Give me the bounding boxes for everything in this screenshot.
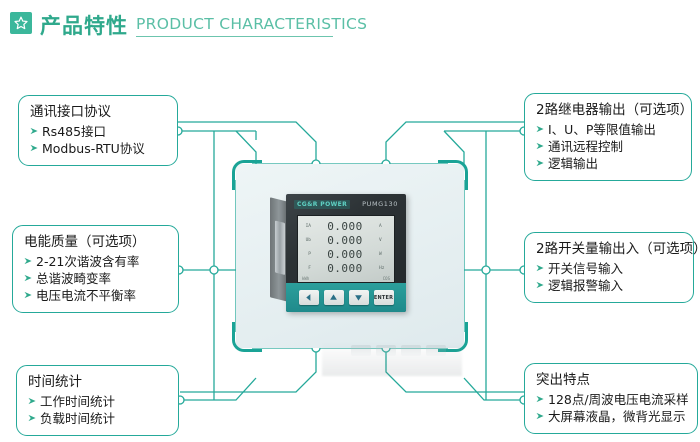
meter-keypad: ENTER <box>286 283 406 312</box>
page-title-en-underline: PRODUCT CHARACTERISTICS <box>136 17 333 38</box>
lcd-row: IA 0.000 A <box>302 219 390 233</box>
device-reflection-keys <box>340 344 456 357</box>
bullet-arrow-icon <box>536 412 545 420</box>
bullet-arrow-icon <box>536 142 545 150</box>
lcd-row-unit: Hz <box>379 266 390 271</box>
up-arrow-key[interactable] <box>324 290 344 305</box>
feature-item: 逻辑输出 <box>536 155 681 172</box>
page-title-en: PRODUCT CHARACTERISTICS <box>136 17 333 33</box>
bullet-arrow-icon <box>30 144 39 152</box>
reflection-key <box>401 345 421 356</box>
feature-item: 128点/周波电压电流采样 <box>536 391 687 408</box>
model-number: PUMG130 <box>362 200 398 208</box>
lcd-row: F 0.000 Hz <box>302 261 390 275</box>
bullet-arrow-icon <box>536 159 545 167</box>
feature-item: 电压电流不平衡率 <box>24 287 168 304</box>
feature-box-power-quality-title: 电能质量（可选项） <box>24 233 168 251</box>
meter-top-bar: CG&R POWER PUMG130 <box>286 194 406 214</box>
feature-item: 开关信号输入 <box>536 260 683 277</box>
lcd-row-tag: F <box>302 266 311 271</box>
product-characteristics-page: 产品特性 PRODUCT CHARACTERISTICS <box>0 0 700 442</box>
bullet-arrow-icon <box>28 414 37 422</box>
lcd-row-value: 0.000 <box>313 249 377 260</box>
feature-item: 负载时间统计 <box>28 410 168 427</box>
corner-bracket-top-left <box>232 160 262 190</box>
reflection-key <box>376 345 396 356</box>
feature-box-digital-io[interactable]: 2路开关量输出入（可选项） 开关信号输入 逻辑报警输入 <box>524 232 694 303</box>
reflection-key <box>351 345 371 356</box>
feature-box-comm[interactable]: 通讯接口协议 Rs485接口 Modbus-RTU协议 <box>18 95 178 166</box>
lcd-row-value: 0.000 <box>313 263 377 274</box>
bullet-arrow-icon <box>536 395 545 403</box>
feature-box-time-statistics-title: 时间统计 <box>28 373 168 391</box>
bullet-arrow-icon <box>24 291 33 299</box>
feature-item-label: 2-21次谐波含有率 <box>36 253 139 270</box>
lcd-row-tag: IA <box>302 224 311 229</box>
corner-bracket-bottom-left <box>232 322 262 352</box>
feature-item-label: I、U、P等限值输出 <box>548 121 656 138</box>
feature-item: Modbus-RTU协议 <box>30 140 167 157</box>
feature-box-digital-io-title: 2路开关量输出入（可选项） <box>536 240 683 258</box>
star-badge-icon <box>10 12 32 34</box>
feature-item: 总谐波畸变率 <box>24 270 168 287</box>
feature-item-label: 电压电流不平衡率 <box>36 287 136 304</box>
lcd-row-unit: A <box>379 224 390 229</box>
reflection-key <box>426 345 446 356</box>
lcd-foot-left: kWh <box>302 276 309 281</box>
corner-bracket-top-right <box>438 160 468 190</box>
feature-item-label: 总谐波畸变率 <box>36 270 111 287</box>
enter-key-label: ENTER <box>374 295 393 301</box>
meter-front-panel: CG&R POWER PUMG130 IA 0.000 A Ub 0.000 V <box>286 194 406 312</box>
lcd-row-unit: V <box>379 238 390 243</box>
feature-item-label: 逻辑报警输入 <box>548 277 623 294</box>
bullet-arrow-icon <box>24 274 33 282</box>
feature-item: 工作时间统计 <box>28 393 168 410</box>
lcd-display: IA 0.000 A Ub 0.000 V P 0.000 W <box>297 215 395 283</box>
lcd-row-value: 0.000 <box>313 221 377 232</box>
feature-item: 通讯远程控制 <box>536 138 681 155</box>
lcd-row-value: 0.000 <box>313 235 377 246</box>
page-title-cn: 产品特性 <box>40 16 128 37</box>
bullet-arrow-icon <box>28 397 37 405</box>
feature-box-relay-output-title: 2路继电器输出（可选项） <box>536 101 681 119</box>
feature-item-label: 逻辑输出 <box>548 155 598 172</box>
feature-item-label: 工作时间统计 <box>40 393 115 410</box>
feature-box-comm-title: 通讯接口协议 <box>30 103 167 121</box>
feature-item-label: Rs485接口 <box>42 123 106 140</box>
feature-item-label: 大屏幕液晶，微背光显示 <box>548 408 686 425</box>
feature-item: 逻辑报警输入 <box>536 277 683 294</box>
feature-item: I、U、P等限值输出 <box>536 121 681 138</box>
feature-item-label: Modbus-RTU协议 <box>42 140 145 157</box>
lcd-row: Ub 0.000 V <box>302 233 390 247</box>
feature-box-highlights-title: 突出特点 <box>536 371 687 389</box>
feature-item: 大屏幕液晶，微背光显示 <box>536 408 687 425</box>
feature-box-highlights[interactable]: 突出特点 128点/周波电压电流采样 大屏幕液晶，微背光显示 <box>524 363 698 434</box>
page-header: 产品特性 PRODUCT CHARACTERISTICS <box>10 12 333 37</box>
power-meter-device: CG&R POWER PUMG130 IA 0.000 A Ub 0.000 V <box>286 194 406 314</box>
bullet-arrow-icon <box>536 264 545 272</box>
feature-item-label: 负载时间统计 <box>40 410 115 427</box>
lcd-foot-right: COS <box>383 276 390 281</box>
lcd-row-unit: W <box>379 252 390 257</box>
down-arrow-key[interactable] <box>349 290 369 305</box>
feature-box-time-statistics[interactable]: 时间统计 工作时间统计 负载时间统计 <box>16 365 179 436</box>
enter-key[interactable]: ENTER <box>374 290 394 305</box>
lcd-row-tag: Ub <box>302 238 311 243</box>
feature-item: 2-21次谐波含有率 <box>24 253 168 270</box>
feature-item-label: 开关信号输入 <box>548 260 623 277</box>
bullet-arrow-icon <box>30 127 39 135</box>
bullet-arrow-icon <box>536 281 545 289</box>
left-arrow-key[interactable] <box>299 290 319 305</box>
product-image-stage: CG&R POWER PUMG130 IA 0.000 A Ub 0.000 V <box>236 164 464 348</box>
bullet-arrow-icon <box>536 125 545 133</box>
lcd-row: P 0.000 W <box>302 247 390 261</box>
feature-box-relay-output[interactable]: 2路继电器输出（可选项） I、U、P等限值输出 通讯远程控制 逻辑输出 <box>524 93 692 181</box>
feature-item-label: 通讯远程控制 <box>548 138 623 155</box>
feature-item: Rs485接口 <box>30 123 167 140</box>
lcd-footer-indicators: kWh COS <box>302 276 390 281</box>
feature-box-power-quality[interactable]: 电能质量（可选项） 2-21次谐波含有率 总谐波畸变率 电压电流不平衡率 <box>12 225 179 313</box>
bullet-arrow-icon <box>24 257 33 265</box>
feature-item-label: 128点/周波电压电流采样 <box>548 391 689 408</box>
brand-logo: CG&R POWER <box>294 200 350 209</box>
lcd-row-tag: P <box>302 252 311 257</box>
